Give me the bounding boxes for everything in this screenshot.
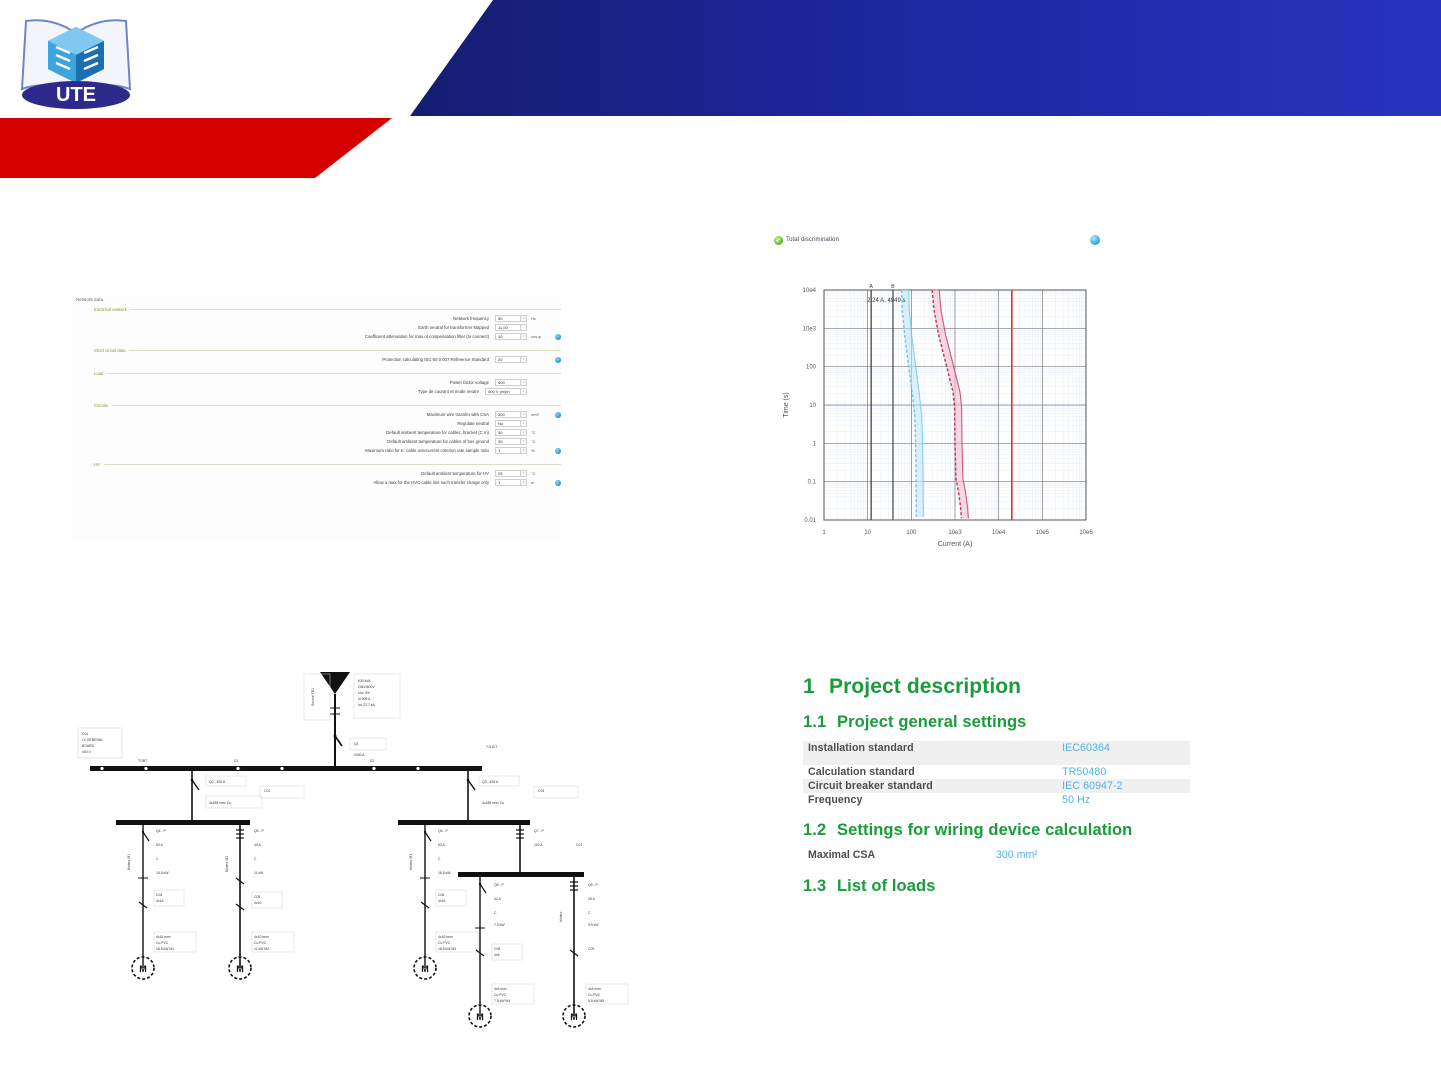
chart-header: Total discrimination — [772, 232, 1106, 248]
svg-text:Q1: Q1 — [354, 742, 359, 746]
settings-input[interactable]: 30 — [495, 429, 521, 435]
svg-text:1000 A: 1000 A — [354, 753, 365, 757]
svg-text:Source TR1: Source TR1 — [311, 688, 315, 706]
table-cell-value: IEC60364 — [1044, 741, 1190, 765]
single-line-diagram[interactable]: 630 kVA 20kV/400V Ucc 4% In 909 A Icc 22… — [68, 650, 640, 1028]
slide-header: UTE — [0, 0, 1441, 180]
settings-row: Network frequency50↕Hz — [72, 314, 561, 323]
settings-row: Regulate neutralNo↕ — [72, 419, 561, 428]
help-icon[interactable] — [555, 480, 561, 486]
svg-text:100 A: 100 A — [534, 843, 543, 847]
table-cell-value: TR50480 — [1044, 765, 1190, 779]
settings-group-label: HV — [72, 462, 100, 467]
settings-row-label: Network frequency — [72, 316, 495, 321]
sub-busbar-right — [398, 820, 530, 825]
report-heading-1-1-number: 1.1 — [803, 713, 837, 732]
report-heading-1-2: 1.2Settings for wiring device calculatio… — [803, 821, 1273, 840]
chart-plot-area[interactable]: 11010010e310e410e510e610e410e31001010.10… — [772, 248, 1106, 568]
settings-group-header: Electrical network — [72, 307, 561, 312]
svg-text:10: 10 — [864, 530, 871, 536]
svg-text:LV GENERAL: LV GENERAL — [82, 738, 103, 742]
settings-input[interactable]: 20 — [495, 356, 521, 362]
svg-text:4x185 mm² Cu: 4x185 mm² Cu — [209, 801, 231, 805]
cursor-readout: 2.24 A, 4949 s — [867, 298, 905, 304]
settings-group-header: HV — [72, 462, 561, 467]
chart-ylabel: Time (s) — [783, 392, 790, 417]
svg-text:400 V: 400 V — [82, 750, 92, 754]
svg-text:Cu PVC: Cu PVC — [494, 993, 507, 997]
settings-input[interactable]: 1 — [495, 447, 521, 453]
settings-row-label: Default ambient temperature for cables, … — [72, 430, 495, 435]
settings-row: Maximum ratio for K: cable overcurrent c… — [72, 446, 561, 455]
table-cell-key: Circuit breaker standard — [803, 779, 1044, 793]
settings-panel-title: Network data — [76, 297, 561, 302]
settings-row-label: Earth neutral for transformer Mapped — [72, 325, 495, 330]
settings-group: Electrical networkNetwork frequency50↕Hz… — [72, 307, 561, 341]
svg-text:20kV/400V: 20kV/400V — [358, 685, 375, 689]
svg-text:18.5 kW: 18.5 kW — [438, 871, 451, 875]
svg-text:TGBT: TGBT — [138, 759, 147, 763]
svg-text:Icc 22.7 kA: Icc 22.7 kA — [358, 703, 376, 707]
settings-spinner[interactable] — [521, 324, 527, 330]
svg-text:10e5: 10e5 — [1036, 530, 1050, 536]
svg-text:Cu PVC: Cu PVC — [254, 941, 267, 945]
settings-input[interactable]: 10 — [495, 333, 521, 339]
svg-text:18.5 kW M1: 18.5 kW M1 — [156, 947, 174, 951]
settings-unit-label: mm² — [531, 412, 551, 417]
settings-row-label: Default ambient temperature for HV — [72, 471, 495, 476]
settings-spinner[interactable]: ↕ — [521, 438, 527, 444]
svg-text:10: 10 — [809, 403, 816, 409]
settings-unit-label: cos φ — [531, 334, 551, 339]
settings-row-label: Coefficient attenuation for max of compe… — [72, 334, 495, 339]
svg-text:4x6: 4x6 — [494, 953, 500, 957]
svg-text:M: M — [139, 964, 147, 974]
svg-text:M: M — [421, 964, 429, 974]
settings-group-header: Short circuit data — [72, 348, 561, 353]
svg-text:Q4 - P: Q4 - P — [156, 829, 167, 833]
settings-group: Short circuit dataProtection calculating… — [72, 348, 561, 364]
settings-spinner[interactable]: ↕ — [521, 379, 527, 385]
chart-xlabel: Current (A) — [938, 541, 973, 548]
svg-text:M: M — [236, 964, 244, 974]
svg-text:4x16 mm²: 4x16 mm² — [438, 935, 454, 939]
settings-row: Earth neutral for transformer Mapped11.0… — [72, 323, 561, 332]
svg-text:7.5 kW: 7.5 kW — [494, 923, 505, 927]
table-cell-key: Calculation standard — [803, 765, 1044, 779]
report-heading-1-3: 1.3List of loads — [803, 877, 1273, 896]
settings-spinner[interactable]: ↕ — [521, 411, 527, 417]
svg-text:M: M — [476, 1012, 484, 1022]
table-row: Calculation standardTR50480 — [803, 765, 1190, 779]
settings-group-label: Short circuit data — [72, 348, 125, 353]
svg-text:7.5 kW M4: 7.5 kW M4 — [494, 999, 510, 1003]
chart-title: Total discrimination — [786, 237, 839, 243]
single-line-diagram-panel[interactable]: 630 kVA 20kV/400V Ucc 4% In 909 A Icc 22… — [68, 650, 640, 1028]
settings-row-label: Default ambient temperature for cables o… — [72, 439, 495, 444]
settings-row: Default ambient temperature for cables o… — [72, 437, 561, 446]
svg-text:63 A: 63 A — [438, 843, 446, 847]
help-icon[interactable] — [555, 334, 561, 340]
report-heading-1-number: 1 — [803, 675, 829, 699]
project-settings-table: Installation standardIEC60364Calculation… — [803, 741, 1190, 807]
svg-text:Q8 - P: Q8 - P — [494, 883, 505, 887]
table-row: Frequency50 Hz — [803, 793, 1190, 807]
info-icon[interactable] — [1090, 235, 1100, 245]
settings-row-label: Protection calculating IEC 60 0 007 Refe… — [72, 357, 495, 362]
table-cell-key: Installation standard — [803, 741, 1044, 765]
svg-text:0.1: 0.1 — [808, 480, 817, 486]
svg-text:Q7 - P: Q7 - P — [534, 829, 545, 833]
table-cell-key: Frequency — [803, 793, 1044, 807]
settings-row: Coefficient attenuation for max of compe… — [72, 332, 561, 341]
settings-group-label: Load — [72, 371, 103, 376]
settings-spinner[interactable]: ↕ — [521, 388, 527, 394]
sub-busbar-right-2 — [458, 872, 584, 877]
settings-group: CircuitsMaximum wire transfer with CSA30… — [72, 403, 561, 455]
svg-text:40 A: 40 A — [254, 843, 262, 847]
report-heading-1-1-text: Project general settings — [837, 713, 1026, 731]
svg-text:4x6 mm²: 4x6 mm² — [494, 987, 508, 991]
check-circle-icon — [774, 236, 783, 245]
settings-row: Maximum wire transfer with CSA300↕mm² — [72, 410, 561, 419]
settings-row: Protection calculating IEC 60 0 007 Refe… — [72, 355, 561, 364]
svg-text:In 909 A: In 909 A — [358, 697, 371, 701]
settings-panel[interactable]: Network data Electrical networkNetwork f… — [72, 297, 561, 542]
svg-text:4x4 mm²: 4x4 mm² — [588, 987, 602, 991]
svg-text:10e4: 10e4 — [803, 288, 817, 294]
project-report-panel: 1Project description 1.1Project general … — [803, 675, 1273, 985]
settings-unit-label: Hz — [531, 316, 551, 321]
table-cell-value: IEC 60947-2 — [1044, 779, 1190, 793]
svg-text:C04: C04 — [156, 893, 162, 897]
svg-text:25 A: 25 A — [588, 897, 596, 901]
svg-text:C06: C06 — [438, 893, 444, 897]
wiring-setting-value: 300 mm² — [996, 849, 1038, 861]
settings-unit-label: °C — [531, 471, 551, 476]
svg-text:10e6: 10e6 — [1079, 530, 1093, 536]
settings-input[interactable]: 30 — [495, 438, 521, 444]
help-icon[interactable] — [555, 448, 561, 454]
svg-text:C09: C09 — [588, 947, 594, 951]
settings-unit-label: % — [531, 448, 551, 453]
svg-text:4x16 mm²: 4x16 mm² — [156, 935, 172, 939]
svg-text:T.G.B.T: T.G.B.T — [486, 745, 498, 749]
svg-text:C08: C08 — [494, 947, 500, 951]
svg-text:Cu PVC: Cu PVC — [438, 941, 451, 945]
svg-text:Moteur M2: Moteur M2 — [225, 856, 229, 872]
settings-unit-label: °C — [531, 430, 551, 435]
svg-text:Q6 - P: Q6 - P — [438, 829, 449, 833]
settings-spinner[interactable]: ↕ — [521, 429, 527, 435]
svg-text:Q9 - P: Q9 - P — [588, 883, 599, 887]
ute-logo: UTE — [12, 3, 143, 113]
svg-text:4x16: 4x16 — [438, 899, 445, 903]
banner-blue-shape — [0, 0, 1441, 116]
svg-text:11 kW: 11 kW — [254, 871, 264, 875]
settings-row-label: Allow a max for the HVC cable line such … — [72, 480, 495, 485]
svg-text:4x185 mm² Cu: 4x185 mm² Cu — [482, 801, 504, 805]
svg-text:Moteur M1: Moteur M1 — [127, 854, 131, 870]
settings-row: Type de courant et mode neutre400 V ph/p… — [72, 387, 561, 396]
settings-input[interactable]: 25 — [495, 470, 521, 476]
svg-text:4x16: 4x16 — [156, 899, 163, 903]
svg-text:C05: C05 — [254, 895, 260, 899]
report-heading-1: 1Project description — [803, 675, 1273, 699]
wiring-setting-key: Maximal CSA — [803, 849, 996, 861]
table-cell-value: 50 Hz — [1044, 793, 1190, 807]
settings-group-divider — [129, 350, 561, 351]
settings-row: Default ambient temperature for cables, … — [72, 428, 561, 437]
svg-text:D2: D2 — [370, 759, 374, 763]
svg-text:630 kVA: 630 kVA — [358, 679, 371, 683]
settings-input[interactable]: 400 — [495, 379, 521, 385]
settings-group-divider — [112, 405, 561, 406]
settings-spinner[interactable]: ↕ — [521, 479, 527, 485]
settings-row-label: Maximum wire transfer with CSA — [72, 412, 495, 417]
table-row: Installation standardIEC60364 — [803, 741, 1190, 765]
report-heading-1-3-text: List of loads — [837, 877, 935, 895]
settings-spinner[interactable]: ↕ — [521, 333, 527, 339]
settings-spinner[interactable]: ↕ — [521, 315, 527, 321]
settings-groups: Electrical networkNetwork frequency50↕Hz… — [72, 307, 561, 487]
svg-text:Ucc 4%: Ucc 4% — [358, 691, 370, 695]
settings-row-label: Power factor voltage — [72, 380, 495, 385]
settings-row: Allow a max for the HVC cable line such … — [72, 478, 561, 487]
wiring-setting-row: Maximal CSA 300 mm² — [803, 849, 1273, 861]
settings-group-divider — [107, 373, 561, 374]
svg-text:Cu PVC: Cu PVC — [588, 993, 601, 997]
svg-text:C03: C03 — [538, 789, 544, 793]
settings-row-label: Type de courant et mode neutre — [72, 389, 485, 394]
svg-text:0.01: 0.01 — [804, 518, 816, 524]
svg-text:10e3: 10e3 — [803, 326, 817, 332]
settings-spinner[interactable]: ↕ — [521, 356, 527, 362]
svg-text:Cu PVC: Cu PVC — [156, 941, 169, 945]
svg-text:C02: C02 — [264, 789, 270, 793]
settings-spinner[interactable]: ↕ — [521, 447, 527, 453]
svg-text:BOARD: BOARD — [82, 744, 95, 748]
settings-row: Power factor voltage400↕ — [72, 378, 561, 387]
settings-group-header: Circuits — [72, 403, 561, 408]
logo-wordmark: UTE — [56, 84, 96, 106]
settings-spinner[interactable]: ↕ — [521, 420, 527, 426]
sub-busbar-left — [116, 820, 250, 825]
settings-input[interactable]: 11.00 — [495, 324, 521, 330]
report-heading-1-text: Project description — [829, 675, 1021, 698]
svg-text:Moteur: Moteur — [559, 911, 563, 922]
svg-text:4x10: 4x10 — [254, 901, 261, 905]
settings-input[interactable]: 400 V ph/ph — [485, 388, 521, 394]
report-heading-1-2-text: Settings for wiring device calculation — [837, 821, 1132, 839]
settings-row-label: Maximum ratio for K: cable overcurrent c… — [72, 448, 495, 453]
svg-text:Q2 - 400 A: Q2 - 400 A — [209, 780, 226, 784]
settings-group-divider — [104, 464, 561, 465]
svg-text:100: 100 — [906, 530, 917, 536]
svg-text:5.5 kW M5: 5.5 kW M5 — [588, 999, 604, 1003]
settings-row: Default ambient temperature for HV25↕°C — [72, 469, 561, 478]
svg-text:Q3 - 400 A: Q3 - 400 A — [482, 780, 499, 784]
svg-text:4x10 mm²: 4x10 mm² — [254, 935, 270, 939]
svg-text:Q5 - P: Q5 - P — [254, 829, 265, 833]
settings-group: LoadPower factor voltage400↕Type de cour… — [72, 371, 561, 396]
svg-text:18.5 kW: 18.5 kW — [156, 871, 169, 875]
report-heading-1-2-number: 1.2 — [803, 821, 837, 840]
report-heading-1-3-number: 1.3 — [803, 877, 837, 896]
report-heading-1-1: 1.1Project general settings — [803, 713, 1273, 732]
settings-group-label: Electrical network — [72, 307, 127, 312]
settings-input[interactable]: 50 — [495, 315, 521, 321]
settings-row-label: Regulate neutral — [72, 421, 495, 426]
svg-text:5.5 kW: 5.5 kW — [588, 923, 599, 927]
svg-text:10e3: 10e3 — [948, 530, 962, 536]
help-icon[interactable] — [555, 412, 561, 418]
svg-text:Moteur M3: Moteur M3 — [409, 854, 413, 870]
settings-unit-label: °C — [531, 439, 551, 444]
help-icon[interactable] — [555, 357, 561, 363]
table-row: Circuit breaker standardIEC 60947-2 — [803, 779, 1190, 793]
settings-group-divider — [131, 309, 561, 310]
svg-text:11 kW M2: 11 kW M2 — [254, 947, 269, 951]
svg-text:63 A: 63 A — [156, 843, 164, 847]
svg-text:C07: C07 — [576, 843, 582, 847]
settings-input[interactable]: No — [495, 420, 521, 426]
discrimination-chart-panel[interactable]: Total discrimination 11010010e310e410e51… — [772, 232, 1106, 572]
svg-text:M: M — [570, 1012, 578, 1022]
discrimination-plot[interactable]: 11010010e310e410e510e610e410e31001010.10… — [772, 248, 1106, 568]
settings-group-header: Load — [72, 371, 561, 376]
svg-text:32 A: 32 A — [494, 897, 502, 901]
svg-text:100: 100 — [806, 365, 817, 371]
svg-text:10e4: 10e4 — [992, 530, 1006, 536]
settings-group-label: Circuits — [72, 403, 108, 408]
settings-unit-label: m — [531, 480, 551, 485]
settings-input[interactable]: 1 — [495, 479, 521, 485]
settings-group: HVDefault ambient temperature for HV25↕°… — [72, 462, 561, 487]
settings-input[interactable]: 300 — [495, 411, 521, 417]
svg-text:18.5 kW M3: 18.5 kW M3 — [438, 947, 456, 951]
svg-text:C01: C01 — [82, 732, 88, 736]
settings-spinner[interactable]: ↕ — [521, 470, 527, 476]
svg-text:D1: D1 — [234, 759, 238, 763]
